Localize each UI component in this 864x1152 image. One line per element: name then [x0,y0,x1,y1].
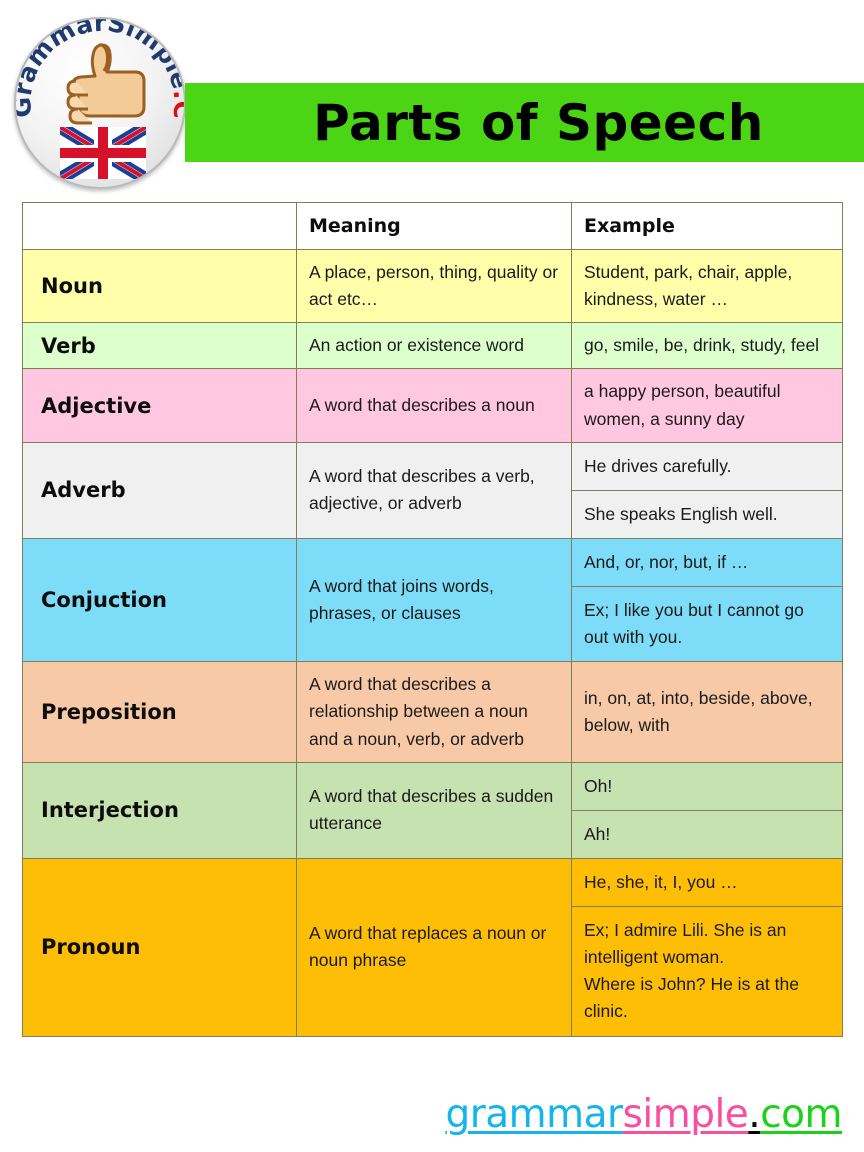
site-url-part-com: com [760,1092,842,1137]
row-meaning: A word that describes a noun [297,369,572,442]
row-example-item: Oh! [572,763,842,810]
row-term-noun: Noun [23,250,297,323]
row-meaning: An action or existence word [297,323,572,369]
row-example: Student, park, chair, apple, kindness, w… [572,250,843,323]
row-example: He drives carefully.She speaks English w… [572,442,843,538]
row-meaning: A word that describes a relationship bet… [297,662,572,762]
table-row: NounA place, person, thing, quality or a… [23,250,843,323]
row-example-item: Ex; I admire Lili. She is an intelligent… [572,906,842,1036]
row-example: a happy person, beautiful women, a sunny… [572,369,843,442]
row-term-adverb: Adverb [23,442,297,538]
table-row: VerbAn action or existence wordgo, smile… [23,323,843,369]
parts-of-speech-table: Meaning Example NounA place, person, thi… [22,202,843,1037]
table-row: AdjectiveA word that describes a nouna h… [23,369,843,442]
row-example-item: She speaks English well. [572,490,842,538]
row-term-pronoun: Pronoun [23,858,297,1036]
thumbs-up-icon [68,45,144,123]
table-row: PrepositionA word that describes a relat… [23,662,843,762]
row-meaning: A word that joins words, phrases, or cla… [297,538,572,661]
row-example-item: Ex; I like you but I cannot go out with … [572,586,842,661]
row-term-verb: Verb [23,323,297,369]
row-term-preposition: Preposition [23,662,297,762]
row-example-item: He drives carefully. [572,443,842,490]
logo-graphic: GrammarSimple.Com [16,19,186,189]
row-example: go, smile, be, drink, study, feel [572,323,843,369]
table-row: PronounA word that replaces a noun or no… [23,858,843,1036]
row-meaning: A place, person, thing, quality or act e… [297,250,572,323]
page-header: GrammarSimple.Com [0,0,864,200]
row-term-adjective: Adjective [23,369,297,442]
site-url[interactable]: grammarsimple.com [445,1092,842,1137]
row-example-item: Ah! [572,810,842,858]
table-row: AdverbA word that describes a verb, adje… [23,442,843,538]
row-example-item: He, she, it, I, you … [572,859,842,906]
row-example: Oh!Ah! [572,762,843,858]
site-url-part-simple: simple [623,1092,749,1137]
page-title: Parts of Speech [185,83,864,162]
row-meaning: A word that describes a sudden utterance [297,762,572,858]
uk-flag-icon [60,127,146,179]
row-example: in, on, at, into, beside, above, below, … [572,662,843,762]
table-body: Meaning Example NounA place, person, thi… [23,203,843,1037]
row-example: He, she, it, I, you …Ex; I admire Lili. … [572,858,843,1036]
column-header-meaning: Meaning [297,203,572,250]
table-row: InterjectionA word that describes a sudd… [23,762,843,858]
row-term-conjuction: Conjuction [23,538,297,661]
site-url-dot: . [748,1092,760,1137]
row-example: And, or, nor, but, if …Ex; I like you bu… [572,538,843,661]
row-term-interjection: Interjection [23,762,297,858]
site-url-part-grammar: grammar [445,1092,622,1137]
page-footer: grammarsimple.com [0,1092,864,1152]
parts-of-speech-table-wrap: Meaning Example NounA place, person, thi… [22,202,842,1037]
row-meaning: A word that replaces a noun or noun phra… [297,858,572,1036]
table-row: ConjuctionA word that joins words, phras… [23,538,843,661]
column-header-example: Example [572,203,843,250]
row-example-item: And, or, nor, but, if … [572,539,842,586]
site-logo-badge[interactable]: GrammarSimple.Com [14,17,186,189]
table-header-row: Meaning Example [23,203,843,250]
title-banner: Parts of Speech [185,83,864,162]
column-header-term [23,203,297,250]
row-meaning: A word that describes a verb, adjective,… [297,442,572,538]
